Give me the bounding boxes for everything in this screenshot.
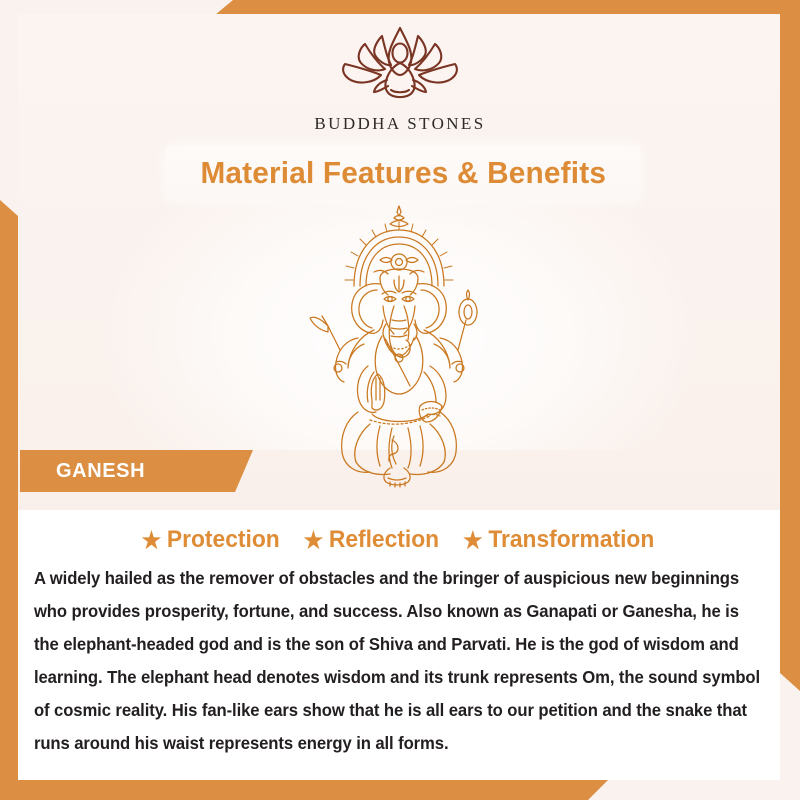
brand-name: BUDDHA STONES — [314, 114, 485, 134]
lotus-meditation-icon — [325, 22, 475, 108]
star-icon: ★ — [463, 529, 483, 552]
ganesh-deity-icon — [284, 200, 514, 490]
frame-left-bar — [0, 200, 18, 780]
benefit-item-reflection: ★ Reflection — [303, 526, 439, 554]
benefit-item-transformation: ★ Transformation — [463, 526, 654, 554]
deity-name-ribbon: GANESH — [20, 450, 253, 492]
deity-name: GANESH — [56, 460, 145, 483]
benefit-label: Transformation — [489, 526, 655, 554]
benefit-label: Protection — [167, 526, 280, 554]
benefit-item-protection: ★ Protection — [142, 526, 280, 554]
benefit-label: Reflection — [329, 526, 439, 554]
star-icon: ★ — [142, 529, 162, 552]
page-title: Material Features & Benefits — [200, 155, 606, 191]
frame-bottom-bar — [0, 780, 608, 800]
infographic-page: BUDDHA STONES Material Features & Benefi… — [0, 0, 800, 800]
star-icon: ★ — [303, 529, 323, 552]
frame-top-bar — [215, 0, 800, 15]
description-card: ★ Protection ★ Reflection ★ Transformati… — [18, 510, 780, 780]
deity-description: A widely hailed as the remover of obstac… — [32, 562, 769, 760]
title-banner: Material Features & Benefits — [166, 146, 640, 200]
illustration-area — [18, 200, 780, 450]
benefits-row: ★ Protection ★ Reflection ★ Transformati… — [32, 526, 766, 554]
brand-logo: BUDDHA STONES — [0, 22, 800, 134]
